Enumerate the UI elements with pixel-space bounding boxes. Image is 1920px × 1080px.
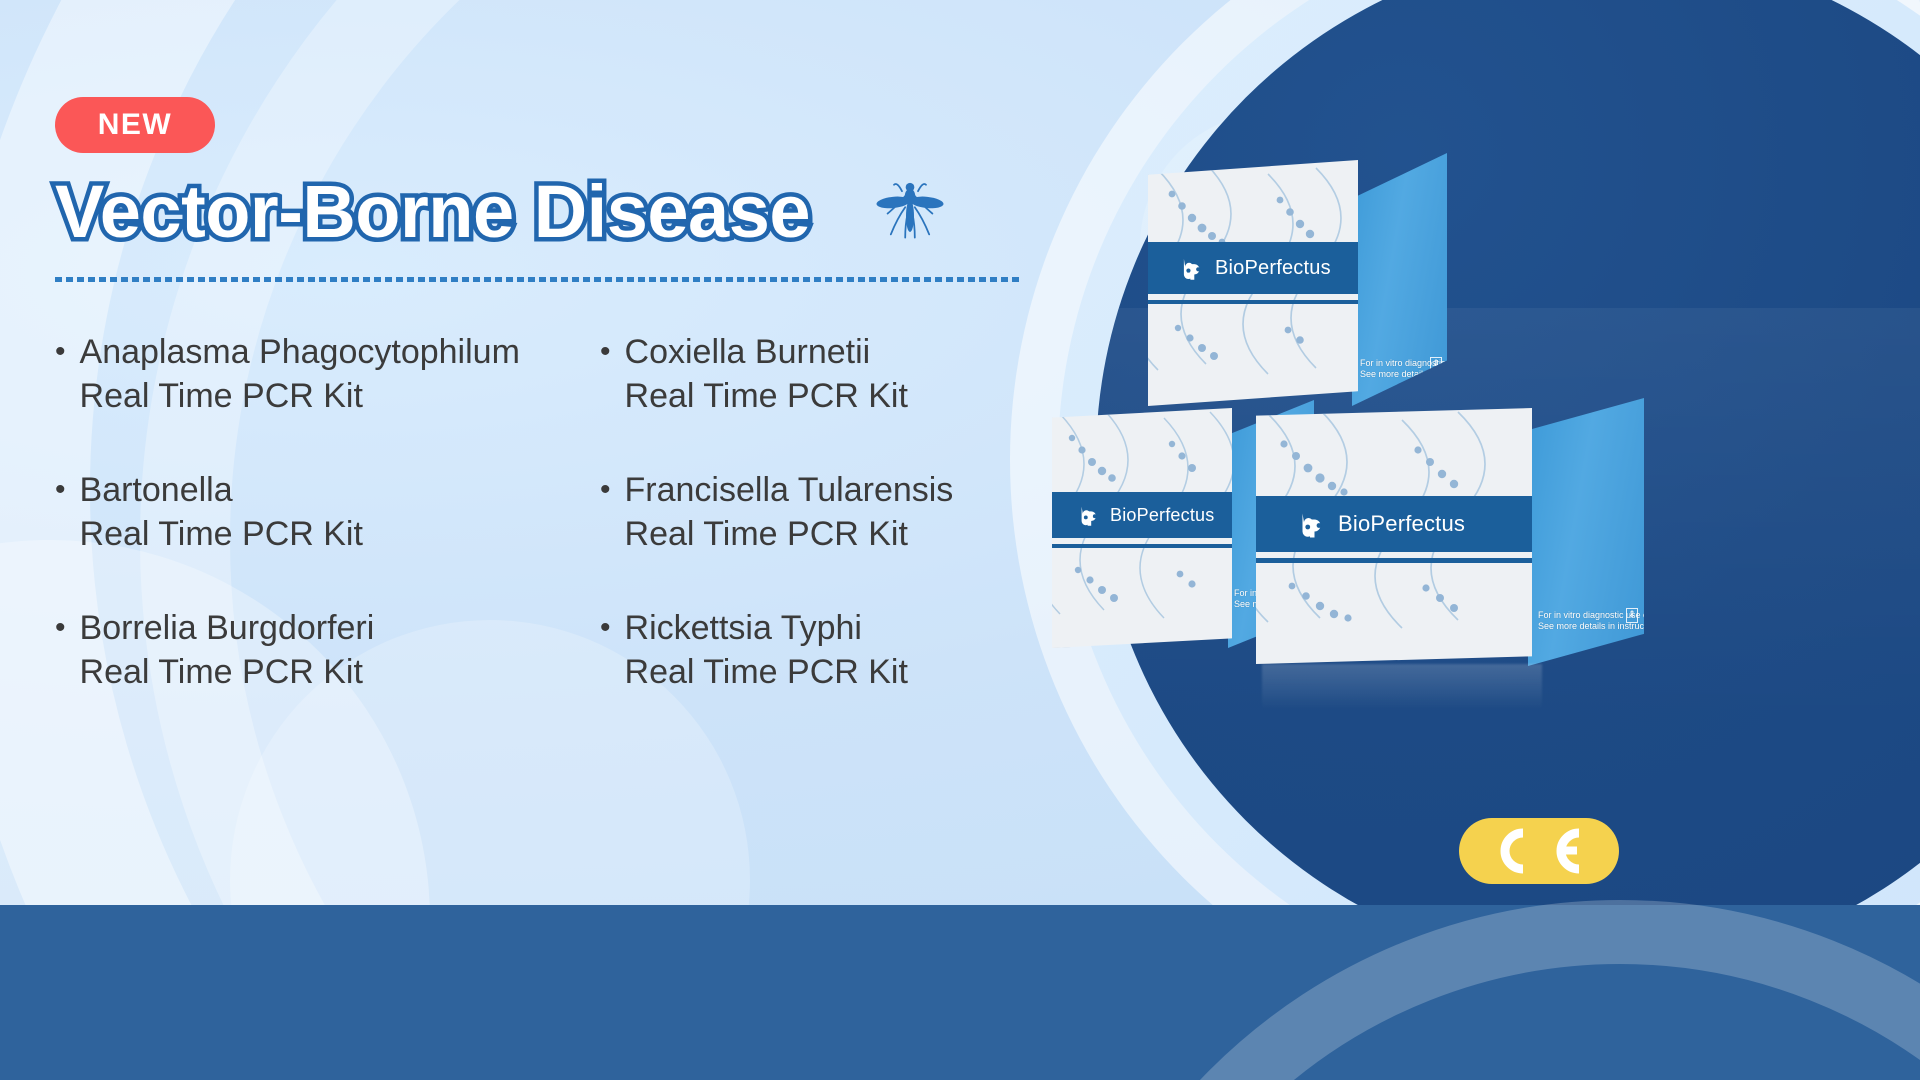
- ce-mark-badge: [1459, 818, 1619, 884]
- page-title: Vector-Borne Disease: [55, 173, 810, 251]
- mosquito-icon: [870, 172, 950, 252]
- kit-subtitle: Real Time PCR Kit: [80, 515, 363, 553]
- kit-name: Bartonella: [80, 471, 233, 509]
- ce-conformity-icon: [1483, 828, 1595, 874]
- kit-subtitle: Real Time PCR Kit: [80, 653, 363, 691]
- banner-content: NEW Vector-Borne Disease: [0, 0, 1100, 905]
- ivd-text-right: For in vitro diagnostic use only See mor…: [1538, 610, 1638, 632]
- promo-banner: For in vitro diagnostic use only See mor…: [0, 0, 1920, 1080]
- list-item: • Francisella Tularensis Real Time PCR K…: [600, 468, 1055, 606]
- kit-list: • Anaplasma Phagocytophilum Real Time PC…: [55, 330, 1055, 744]
- ivd-line-1: For in vitro diagnostic use only: [1538, 610, 1638, 621]
- product-box-top-side: For in vitro diagnostic use only See mor…: [1352, 153, 1447, 406]
- brand-band-right: BioPerfectus: [1256, 496, 1532, 552]
- brand-hairline-right: [1256, 558, 1532, 563]
- list-item: • Rickettsia Typhi Real Time PCR Kit: [600, 606, 1055, 744]
- list-bullet: •: [55, 606, 66, 650]
- product-box-right: For in vitro diagnostic use only See mor…: [1256, 408, 1656, 668]
- brand-name-left: BioPerfectus: [1110, 505, 1214, 526]
- product-box-right-face: BioPerfectus: [1256, 408, 1532, 664]
- list-item: • Coxiella Burnetii Real Time PCR Kit: [600, 330, 1055, 468]
- kit-subtitle: Real Time PCR Kit: [625, 377, 908, 415]
- new-badge: NEW: [55, 97, 215, 153]
- product-box-top: For in vitro diagnostic use only See mor…: [1142, 198, 1462, 413]
- brand-name-right: BioPerfectus: [1338, 511, 1465, 537]
- title-row: Vector-Borne Disease: [55, 172, 950, 252]
- list-bullet: •: [600, 606, 611, 650]
- brand-name-top: BioPerfectus: [1215, 257, 1331, 280]
- title-underline: [55, 277, 1020, 282]
- kit-name: Rickettsia Typhi: [625, 609, 862, 647]
- product-box-top-face: BioPerfectus: [1148, 160, 1358, 406]
- bp-logo-icon: [1298, 509, 1328, 539]
- list-bullet: •: [55, 330, 66, 374]
- kit-name: Anaplasma Phagocytophilum: [80, 333, 520, 371]
- brand-band-top: BioPerfectus: [1148, 242, 1358, 294]
- kit-subtitle: Real Time PCR Kit: [80, 377, 363, 415]
- kit-name: Borrelia Burgdorferi: [80, 609, 375, 647]
- kit-name: Coxiella Burnetii: [625, 333, 871, 371]
- bp-logo-icon: [1180, 255, 1206, 281]
- list-item: • Anaplasma Phagocytophilum Real Time PC…: [55, 330, 600, 468]
- list-bullet: •: [55, 468, 66, 512]
- kit-subtitle: Real Time PCR Kit: [625, 515, 908, 553]
- list-item: • Borrelia Burgdorferi Real Time PCR Kit: [55, 606, 600, 744]
- kit-name: Francisella Tularensis: [625, 471, 954, 509]
- list-bullet: •: [600, 330, 611, 374]
- ivd-line-1: For in vitro diagnostic use only: [1360, 358, 1440, 369]
- ivd-line-2: See more details in instruction: [1538, 621, 1638, 632]
- bottom-band: [0, 905, 1920, 1080]
- list-bullet: •: [600, 468, 611, 512]
- list-item: • Bartonella Real Time PCR Kit: [55, 468, 600, 606]
- ivd-line-2: See more details in instruction: [1360, 369, 1440, 380]
- bottom-band-arc: [1040, 900, 1920, 1080]
- ivd-text-top: For in vitro diagnostic use only See mor…: [1360, 358, 1440, 380]
- box-reflection: [1262, 664, 1542, 710]
- instructions-manual-icon: ⇕: [1626, 608, 1638, 623]
- instructions-manual-icon: ⇕: [1430, 357, 1442, 371]
- brand-hairline-top: [1148, 300, 1358, 304]
- kit-subtitle: Real Time PCR Kit: [625, 653, 908, 691]
- product-box-right-side: For in vitro diagnostic use only See mor…: [1528, 398, 1644, 666]
